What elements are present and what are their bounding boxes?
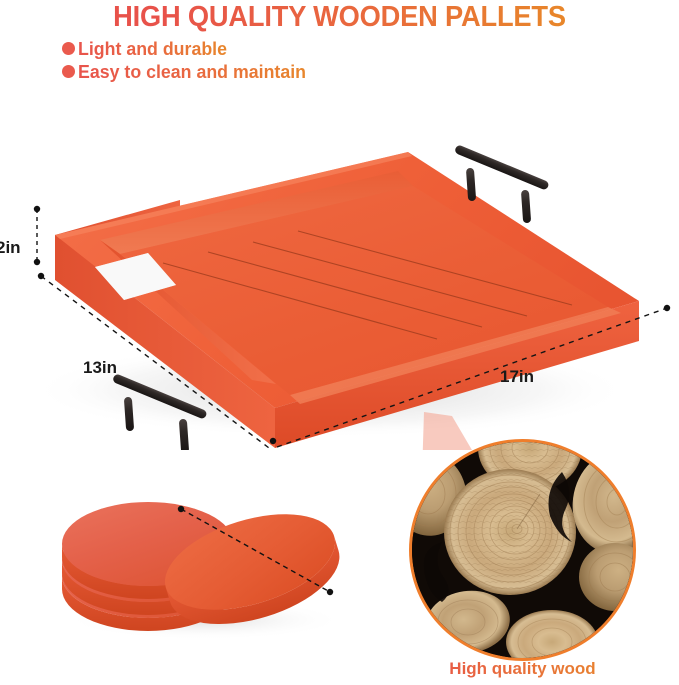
tray-svg bbox=[0, 130, 679, 450]
wood-detail-caption: High quality wood bbox=[409, 659, 636, 679]
feature-bullet-list: Light and durable Easy to clean and main… bbox=[62, 38, 316, 84]
tray-product-image bbox=[0, 130, 679, 450]
coasters-svg bbox=[40, 480, 370, 645]
bullet-dot-icon bbox=[62, 65, 75, 78]
feature-bullet-label: Light and durable bbox=[78, 38, 227, 60]
dim-endpoint bbox=[178, 506, 184, 512]
list-item: Light and durable bbox=[62, 38, 316, 59]
dim-endpoint bbox=[270, 438, 276, 444]
product-infographic: HIGH QUALITY WOODEN PALLETS Light and du… bbox=[0, 0, 679, 685]
dim-endpoint bbox=[327, 589, 333, 595]
wood-detail-svg bbox=[412, 442, 633, 658]
dim-endpoint bbox=[664, 305, 670, 311]
coaster-product-image bbox=[40, 480, 370, 645]
dim-endpoint bbox=[38, 273, 44, 279]
dim-endpoint bbox=[34, 206, 40, 212]
wood-detail-callout bbox=[409, 439, 636, 661]
list-item: Easy to clean and maintain bbox=[62, 61, 316, 82]
dimension-label-width: 17in bbox=[500, 367, 534, 387]
page-title: HIGH QUALITY WOODEN PALLETS bbox=[20, 1, 658, 34]
feature-bullet-label: Easy to clean and maintain bbox=[78, 61, 306, 83]
dimension-label-height: 2in bbox=[0, 238, 21, 258]
dimension-label-depth: 13in bbox=[83, 358, 117, 378]
dim-endpoint bbox=[34, 259, 40, 265]
bullet-dot-icon bbox=[62, 42, 75, 55]
